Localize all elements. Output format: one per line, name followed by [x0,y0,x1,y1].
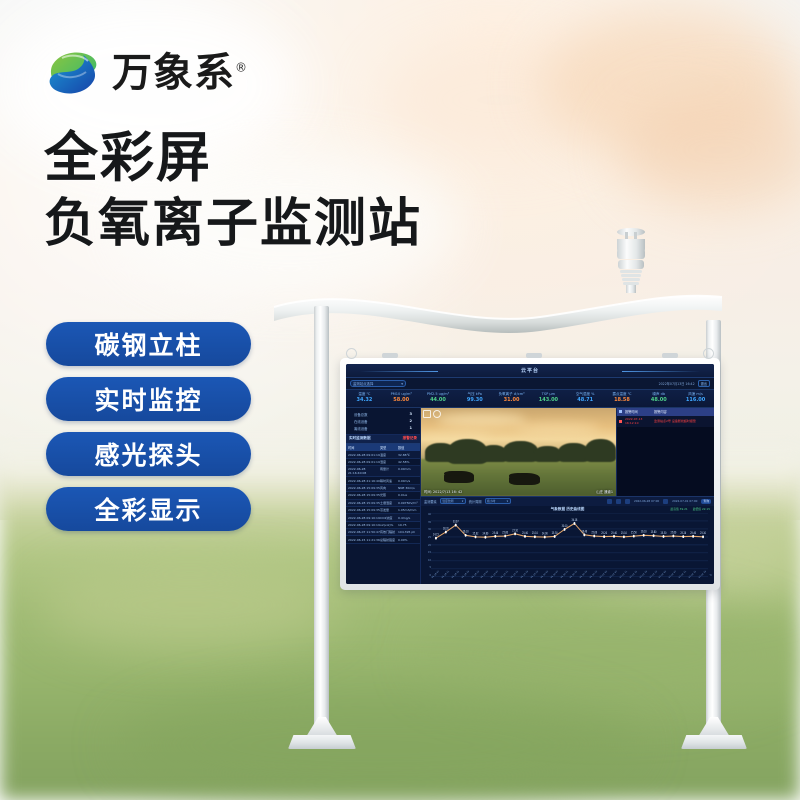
chevron-down-icon: ▾ [507,499,508,503]
metric-strip: 温度 ℃ 34.32 PM10 ug/m³ 58.00 PM2.5 ug/m³ … [346,389,714,408]
metric-item: 空气湿度 % 48.71 [567,392,604,404]
chevron-down-icon: ▾ [462,499,463,503]
brand-name: 万象系® [112,53,248,93]
chart-line-series: 24.1528.3233.0726.1025.0224.8025.4025.60… [431,513,708,577]
records-title: 实时监测数据 [349,436,371,441]
records-panel-header: 实时监测数据 报警记录 [346,435,420,444]
period-filter-label: 统计周期 [469,499,482,504]
table-row[interactable]: 2022-06-28 09:10:19 CO2浓度 0.4mg/L [346,514,420,521]
svg-text:25.60: 25.60 [591,530,597,535]
calendar-icon[interactable] [625,499,630,504]
svg-text:33.07: 33.07 [453,519,459,524]
table-view-icon[interactable] [607,499,612,504]
detected-cattle [444,471,473,482]
metric-item: TSP μm 143.00 [530,392,567,404]
device-summary: 设备总数 3 在线设备 2 离线设备 1 [346,408,420,435]
feature-badge: 实时监控 [46,377,251,421]
headline-block: 全彩屏 负氧离子监测站 [44,124,422,258]
camera-snapshot-icon[interactable] [433,410,441,418]
feature-badge: 碳钢立柱 [46,322,251,366]
chart-controls: 监测要素 温度监测▾ 统计周期 按小时▾ 2022-06-28 07:00 [421,496,714,506]
alarm-log-panel: 报警时间 报警内容 2022-07-13 16:12:10 监测站点2号 设备断… [616,408,714,496]
table-row[interactable]: 2022-06-28 21:16:40 瞬时风速 0.00m/s [346,477,420,484]
table-row[interactable]: 2022-06-28 09:01:19 湿度 42.58% [346,459,420,466]
detected-cattle [509,473,540,485]
svg-text:25.40: 25.40 [690,530,696,535]
svg-text:25.40: 25.40 [492,530,498,535]
svg-text:25.20: 25.20 [601,531,607,536]
alarm-records-link[interactable]: 报警记录 [403,436,417,441]
brand-logo: 万象系® [44,44,248,102]
element-filter-label: 监测要素 [424,499,437,504]
svg-text:24.80: 24.80 [483,531,489,536]
summary-row: 在线设备 2 [350,418,416,425]
svg-text:25.10: 25.10 [621,531,627,536]
svg-text:25.30: 25.30 [661,531,667,536]
metric-item: 气压 kPa 99.30 [456,392,493,404]
table-row[interactable]: 2022-06-07 11:50:47 有效门辐射 104.395 ph [346,529,420,536]
svg-text:24.90: 24.90 [542,531,548,536]
svg-text:25.60: 25.60 [670,530,676,535]
svg-text:25.02: 25.02 [473,531,479,536]
date-to[interactable]: 2022-07-01 07:00 [672,499,697,503]
metric-item: 负氧离子 #/cm³ 31.00 [493,392,530,404]
alarm-row[interactable]: 2022-07-13 16:12:10 监测站点2号 设备断线超时报警 [617,416,714,427]
table-row[interactable]: 2022-06-28 15:09:35 土壤湿度 0.0975KV/m² [346,500,420,507]
alarm-column-headers: 报警时间 报警内容 [617,408,714,416]
feature-badge: 全彩显示 [46,487,251,531]
svg-text:25.40: 25.40 [522,530,528,535]
headline-line-1: 全彩屏 [44,124,422,192]
header-datetime: 2022年07月13日 16:42 [659,381,695,386]
svg-text:25.80: 25.80 [651,530,657,535]
summary-row: 设备总数 3 [350,411,416,418]
element-filter-select[interactable]: 温度监测▾ [440,498,466,504]
table-row[interactable]: 2022-06-28 15:09:35 光照 0.0lux [346,492,420,499]
logout-button[interactable]: 退出 [698,380,710,387]
alert-bullet-icon [619,420,622,423]
records-column-headers: 时间 类型 数值 [346,444,420,452]
chart-view-icon[interactable] [616,499,621,504]
metric-item: 露点温度 ℃ 18.58 [604,392,641,404]
table-row[interactable]: 2022-06-15 11:21:36 总辐射强度 0.00% [346,536,420,543]
date-from[interactable]: 2022-06-28 07:00 [634,499,659,503]
svg-text:25.50: 25.50 [631,530,637,535]
dashboard-screen: 云平台 监测站点选择 ▾ 2022年07月13日 16:42 退出 温度 ℃ 3… [346,364,714,584]
dashboard-title: 云平台 [521,367,539,374]
headline-line-2: 负氧离子监测站 [44,192,422,258]
camera-timestamp: 时间: 2022/7/13 16: 42 [424,489,462,494]
svg-text:28.32: 28.32 [443,526,449,531]
svg-text:25.10: 25.10 [700,531,706,536]
legend-max: 最高值 39.21 [670,507,687,511]
svg-text:26.40: 26.40 [581,529,587,534]
table-row[interactable]: 2022-06-28 15:09:35 蒸发量 1.05m3/mm [346,507,420,514]
svg-text:25.20: 25.20 [680,531,686,536]
table-row[interactable]: 2022-06-28 09:01:19 温度 32.88℃ [346,451,420,458]
chart-plot-area: 4035302520151050 24.1528.3233.0726.1025.… [431,513,708,584]
svg-text:26.10: 26.10 [641,529,647,534]
bullet-icon [619,410,622,413]
x-axis-labels: 06-28 0706-28 1106-28 1506-28 1906-28 23… [431,577,708,584]
product-poster: 万象系® 全彩屏 负氧离子监测站 碳钢立柱 实时监控 感光探头 全彩显示 [0,0,800,800]
svg-text:25.10: 25.10 [532,531,538,536]
station-select[interactable]: 监测站点选择 ▾ [350,380,406,387]
history-chart: 气象数据 历史曲线图 最高值 39.21 最低值 22.15 403530252… [421,506,714,584]
table-row[interactable]: 2022-06-28 09:10:19 o2(vol)% 19.75 [346,522,420,529]
summary-row: 离线设备 1 [350,425,416,432]
chart-legend: 最高值 39.21 最低值 22.15 [670,507,710,511]
svg-text:25.40: 25.40 [611,530,617,535]
svg-text:25.60: 25.60 [502,530,508,535]
metric-item: 温度 ℃ 34.32 [346,392,383,404]
svg-text:24.15: 24.15 [433,532,439,537]
legend-min: 最低值 22.15 [693,507,710,511]
table-row[interactable]: 2022-06-28 15:09:35 风向 NNE 30m/s [346,485,420,492]
led-display-frame: 云平台 监测站点选择 ▾ 2022年07月13日 16:42 退出 温度 ℃ 3… [340,358,720,590]
svg-text:30.10: 30.10 [562,524,568,529]
feature-badge: 感光探头 [46,432,251,476]
dashboard-subbar: 监测站点选择 ▾ 2022年07月13日 16:42 退出 [346,378,714,389]
query-button[interactable]: 查询 [701,499,711,504]
fullscreen-icon[interactable] [423,410,431,418]
metric-item: PM10 ug/m³ 58.00 [383,392,420,404]
records-table-body[interactable]: 2022-06-28 09:01:19 温度 32.88℃ 2022-06-28… [346,451,420,584]
y-axis-ticks: 4035302520151050 [422,513,431,577]
metric-item: PM2.5 ug/m³ 44.00 [420,392,457,404]
svg-text:27.10: 27.10 [512,528,518,533]
camera-live-view[interactable]: 时间: 2022/7/13 16: 42 山庄 通道1 [421,408,616,496]
metric-item: 噪声 db 48.00 [640,392,677,404]
dashboard-title-bar: 云平台 [346,364,714,378]
metric-item: 风速 m/s 116.00 [677,392,714,404]
left-panel: 设备总数 3 在线设备 2 离线设备 1 实时监测数据 报警记录 [346,408,421,584]
chart-unit: ℃ [709,574,712,577]
svg-text:26.10: 26.10 [463,529,469,534]
globe-swirl-logo-icon [44,44,102,102]
chevron-down-icon: ▾ [401,382,403,386]
camera-location-label: 山庄 通道1 [596,489,613,494]
period-filter-select[interactable]: 按小时▾ [485,498,511,504]
calendar-icon[interactable] [663,499,668,504]
registered-mark: ® [235,61,248,75]
table-row[interactable]: 2022-06-28 21:16:40:08 雨量计 0.00mm [346,466,420,477]
svg-text:25.30: 25.30 [552,531,558,536]
station-select-value: 监测站点选择 [353,381,373,386]
svg-text:34.18: 34.18 [572,518,578,523]
feature-badge-list: 碳钢立柱 实时监控 感光探头 全彩显示 [46,322,251,531]
